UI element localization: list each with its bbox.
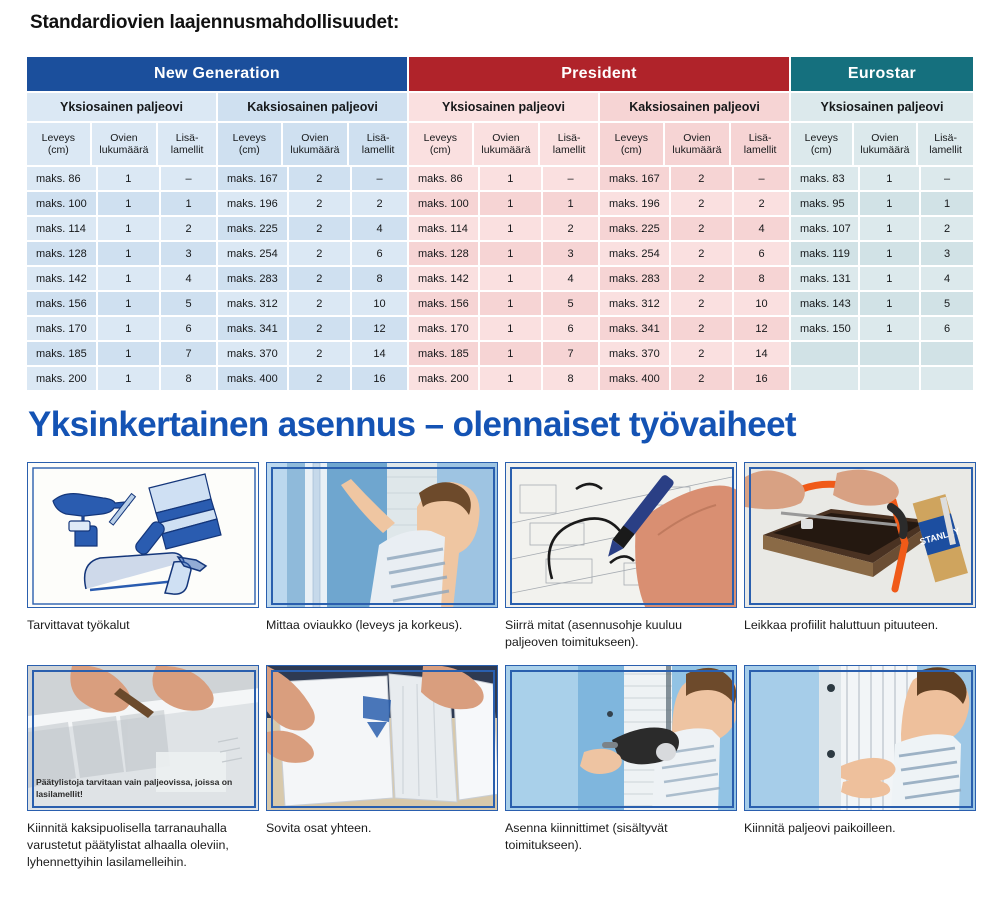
step-measure: Mittaa oviaukko (leveys ja korkeus). bbox=[266, 462, 498, 651]
table-cell: 2 bbox=[289, 167, 350, 190]
table-cell: 2 bbox=[671, 267, 732, 290]
table-cell: maks. 114 bbox=[27, 217, 96, 240]
step-caption: Kiinnitä kaksipuolisella tarranauhalla v… bbox=[27, 820, 259, 871]
table-cell: maks. 167 bbox=[218, 167, 287, 190]
table-cell: maks. 142 bbox=[409, 267, 478, 290]
table-cell: 1 bbox=[98, 317, 159, 340]
table-cell: 5 bbox=[921, 292, 973, 315]
table-cell: maks. 156 bbox=[27, 292, 96, 315]
photo-attaching-end-strips: Päätylistoja tarvitaan vain paljeovissa,… bbox=[27, 665, 259, 811]
table-row: maks. 861–maks. 1672–maks. 861–maks. 167… bbox=[27, 167, 973, 190]
table-cell: maks. 170 bbox=[409, 317, 478, 340]
table-cell: 3 bbox=[543, 242, 598, 265]
table-cell: 1 bbox=[480, 367, 541, 390]
step-caption: Asenna kiinnittimet (sisältyvät toimituk… bbox=[505, 820, 737, 854]
photo-marking-plans bbox=[505, 462, 737, 608]
table-cell: maks. 370 bbox=[218, 342, 287, 365]
table-cell: 8 bbox=[161, 367, 216, 390]
step-caption: Siirrä mitat (asennusohje kuuluu paljeov… bbox=[505, 617, 737, 651]
table-cell: 10 bbox=[734, 292, 789, 315]
variant-header-0: Yksiosainen paljeovi bbox=[27, 93, 216, 121]
table-cell: – bbox=[543, 167, 598, 190]
table-cell: 1 bbox=[480, 242, 541, 265]
step-caption: Tarvittavat työkalut bbox=[27, 617, 259, 634]
column-header-lisalamellit: Lisä-lamellit bbox=[158, 123, 216, 165]
table-cell: 1 bbox=[480, 317, 541, 340]
step-caption: Sovita osat yhteen. bbox=[266, 820, 498, 837]
table-cell: 2 bbox=[289, 292, 350, 315]
table-cell: 4 bbox=[161, 267, 216, 290]
table-cell: 6 bbox=[921, 317, 973, 340]
photo-mounting-door bbox=[744, 665, 976, 811]
photo-measuring-doorway bbox=[266, 462, 498, 608]
table-cell bbox=[921, 342, 973, 365]
table-cell: maks. 185 bbox=[27, 342, 96, 365]
table-cell: 16 bbox=[352, 367, 407, 390]
table-cell: 1 bbox=[860, 292, 919, 315]
table-body: maks. 861–maks. 1672–maks. 861–maks. 167… bbox=[27, 167, 973, 390]
table-cell: 2 bbox=[543, 217, 598, 240]
table-cell: maks. 114 bbox=[409, 217, 478, 240]
table-cell: 1 bbox=[98, 367, 159, 390]
table-cell: 6 bbox=[161, 317, 216, 340]
table-cell: 4 bbox=[543, 267, 598, 290]
table-cell: 1 bbox=[921, 192, 973, 215]
table-cell: – bbox=[161, 167, 216, 190]
brand-header-eurostar: Eurostar bbox=[791, 57, 973, 91]
table-cell: 14 bbox=[734, 342, 789, 365]
table-cell: maks. 185 bbox=[409, 342, 478, 365]
table-cell: 1 bbox=[860, 192, 919, 215]
column-header-leveys: Leveys(cm) bbox=[791, 123, 852, 165]
table-row: maks. 11412maks. 22524maks. 11412maks. 2… bbox=[27, 217, 973, 240]
photo-cutting-profiles: STANLEY bbox=[744, 462, 976, 608]
table-cell: 8 bbox=[734, 267, 789, 290]
tools-illustration bbox=[27, 462, 259, 608]
column-header-leveys: Leveys(cm) bbox=[218, 123, 281, 165]
column-header-ovien-lukumaara: Ovienlukumäärä bbox=[92, 123, 157, 165]
table-cell: maks. 312 bbox=[600, 292, 669, 315]
table-cell: maks. 196 bbox=[218, 192, 287, 215]
table-cell: 2 bbox=[289, 217, 350, 240]
table-cell: 1 bbox=[480, 217, 541, 240]
table-cell: 12 bbox=[352, 317, 407, 340]
table-cell: 2 bbox=[161, 217, 216, 240]
column-header-ovien-lukumaara: Ovienlukumäärä bbox=[283, 123, 348, 165]
table-cell: maks. 119 bbox=[791, 242, 858, 265]
table-cell: 1 bbox=[860, 242, 919, 265]
table-cell: 2 bbox=[671, 317, 732, 340]
brand-header-president: President bbox=[409, 57, 789, 91]
table-row: maks. 10011maks. 19622maks. 10011maks. 1… bbox=[27, 192, 973, 215]
table-cell bbox=[921, 367, 973, 390]
table-column-header-row: Leveys(cm)OvienlukumääräLisä-lamellitLev… bbox=[27, 123, 973, 165]
table-cell: 12 bbox=[734, 317, 789, 340]
table-cell: 8 bbox=[543, 367, 598, 390]
spec-table: New GenerationPresidentEurostar Yksiosai… bbox=[27, 57, 973, 390]
table-cell: 2 bbox=[289, 317, 350, 340]
table-cell: 1 bbox=[98, 167, 159, 190]
table-cell: 1 bbox=[860, 267, 919, 290]
table-cell: maks. 83 bbox=[791, 167, 858, 190]
table-cell bbox=[860, 367, 919, 390]
step-transfer: Siirrä mitat (asennusohje kuuluu paljeov… bbox=[505, 462, 737, 651]
table-cell: 6 bbox=[734, 242, 789, 265]
table-cell: maks. 95 bbox=[791, 192, 858, 215]
table-cell: maks. 107 bbox=[791, 217, 858, 240]
step-endstrips: Päätylistoja tarvitaan vain paljeovissa,… bbox=[27, 665, 259, 871]
table-cell: maks. 128 bbox=[409, 242, 478, 265]
table-cell: maks. 283 bbox=[600, 267, 669, 290]
column-header-leveys: Leveys(cm) bbox=[409, 123, 472, 165]
table-row: maks. 20018maks. 400216maks. 20018maks. … bbox=[27, 367, 973, 390]
table-cell: maks. 225 bbox=[218, 217, 287, 240]
step-caption: Leikkaa profiilit haluttuun pituuteen. bbox=[744, 617, 976, 634]
image-overlay-note: Päätylistoja tarvitaan vain paljeovissa,… bbox=[36, 777, 248, 800]
variant-header-4: Yksiosainen paljeovi bbox=[791, 93, 973, 121]
table-cell: 1 bbox=[480, 292, 541, 315]
table-cell: – bbox=[734, 167, 789, 190]
table-cell: 3 bbox=[921, 242, 973, 265]
table-cell: 2 bbox=[289, 367, 350, 390]
table-cell: maks. 170 bbox=[27, 317, 96, 340]
column-header-lisalamellit: Lisä-lamellit bbox=[349, 123, 407, 165]
table-cell: 6 bbox=[352, 242, 407, 265]
table-cell: maks. 131 bbox=[791, 267, 858, 290]
page-title: Standardiovien laajennusmahdollisuudet: bbox=[30, 12, 399, 34]
table-cell: 5 bbox=[161, 292, 216, 315]
table-cell: 2 bbox=[671, 167, 732, 190]
table-cell: 2 bbox=[289, 192, 350, 215]
table-cell: 16 bbox=[734, 367, 789, 390]
table-cell: maks. 86 bbox=[409, 167, 478, 190]
table-cell: 1 bbox=[98, 242, 159, 265]
table-cell: 1 bbox=[98, 342, 159, 365]
column-header-lisalamellit: Lisä-lamellit bbox=[918, 123, 973, 165]
table-row: maks. 14214maks. 28328maks. 14214maks. 2… bbox=[27, 267, 973, 290]
table-cell: maks. 283 bbox=[218, 267, 287, 290]
table-brand-header-row: New GenerationPresidentEurostar bbox=[27, 57, 973, 91]
table-cell: 2 bbox=[671, 342, 732, 365]
table-cell: 4 bbox=[734, 217, 789, 240]
table-cell: maks. 400 bbox=[218, 367, 287, 390]
table-cell: maks. 200 bbox=[27, 367, 96, 390]
installation-steps: Tarvittavat työkalut Mittaa oviaukko (le… bbox=[27, 462, 977, 872]
step-caption: Mittaa oviaukko (leveys ja korkeus). bbox=[266, 617, 498, 634]
photo-installing-fasteners bbox=[505, 665, 737, 811]
table-row: maks. 12813maks. 25426maks. 12813maks. 2… bbox=[27, 242, 973, 265]
table-cell: 2 bbox=[734, 192, 789, 215]
table-cell: maks. 225 bbox=[600, 217, 669, 240]
table-cell: 2 bbox=[671, 192, 732, 215]
step-cut: STANLEY Leikkaa profiilit haluttuun pitu… bbox=[744, 462, 976, 651]
step-caption: Kiinnitä paljeovi paikoilleen. bbox=[744, 820, 976, 837]
column-header-leveys: Leveys(cm) bbox=[27, 123, 90, 165]
step-fit: Sovita osat yhteen. bbox=[266, 665, 498, 871]
photo-fitting-parts bbox=[266, 665, 498, 811]
variant-header-2: Yksiosainen paljeovi bbox=[409, 93, 598, 121]
column-header-lisalamellit: Lisä-lamellit bbox=[540, 123, 598, 165]
section-heading: Yksinkertainen asennus – olennaiset työv… bbox=[28, 405, 796, 445]
table-cell: 2 bbox=[671, 242, 732, 265]
step-tools: Tarvittavat työkalut bbox=[27, 462, 259, 651]
table-cell: maks. 341 bbox=[600, 317, 669, 340]
table-cell: maks. 156 bbox=[409, 292, 478, 315]
table-cell: 1 bbox=[860, 167, 919, 190]
table-cell: maks. 100 bbox=[409, 192, 478, 215]
table-cell: 1 bbox=[480, 267, 541, 290]
table-cell: 1 bbox=[543, 192, 598, 215]
table-cell: – bbox=[921, 167, 973, 190]
table-row: maks. 18517maks. 370214maks. 18517maks. … bbox=[27, 342, 973, 365]
table-cell: maks. 128 bbox=[27, 242, 96, 265]
table-cell: 2 bbox=[289, 242, 350, 265]
table-cell: 2 bbox=[352, 192, 407, 215]
table-cell: maks. 100 bbox=[27, 192, 96, 215]
table-cell: 6 bbox=[543, 317, 598, 340]
table-cell: 10 bbox=[352, 292, 407, 315]
steps-row-top: Tarvittavat työkalut Mittaa oviaukko (le… bbox=[27, 462, 977, 651]
table-cell: maks. 200 bbox=[409, 367, 478, 390]
table-cell: maks. 370 bbox=[600, 342, 669, 365]
table-cell: 1 bbox=[860, 317, 919, 340]
table-cell: maks. 86 bbox=[27, 167, 96, 190]
table-cell: 1 bbox=[98, 192, 159, 215]
table-cell: maks. 143 bbox=[791, 292, 858, 315]
variant-header-3: Kaksiosainen paljeovi bbox=[600, 93, 789, 121]
table-variant-header-row: Yksiosainen paljeoviKaksiosainen paljeov… bbox=[27, 93, 973, 121]
table-cell: maks. 254 bbox=[600, 242, 669, 265]
table-cell: 2 bbox=[921, 217, 973, 240]
steps-row-bottom: Päätylistoja tarvitaan vain paljeovissa,… bbox=[27, 665, 977, 871]
column-header-ovien-lukumaara: Ovienlukumäärä bbox=[474, 123, 539, 165]
table-cell: 1 bbox=[98, 217, 159, 240]
table-cell bbox=[791, 367, 858, 390]
table-cell: 14 bbox=[352, 342, 407, 365]
table-cell bbox=[860, 342, 919, 365]
column-header-leveys: Leveys(cm) bbox=[600, 123, 663, 165]
table-cell: maks. 400 bbox=[600, 367, 669, 390]
table-cell: 2 bbox=[671, 292, 732, 315]
table-cell bbox=[791, 342, 858, 365]
table-cell: 4 bbox=[352, 217, 407, 240]
table-cell: 2 bbox=[289, 267, 350, 290]
table-cell: 1 bbox=[480, 192, 541, 215]
table-cell: 2 bbox=[671, 367, 732, 390]
brand-header-new-generation: New Generation bbox=[27, 57, 407, 91]
column-header-ovien-lukumaara: Ovienlukumäärä bbox=[854, 123, 917, 165]
table-cell: 5 bbox=[543, 292, 598, 315]
step-mount: Kiinnitä paljeovi paikoilleen. bbox=[744, 665, 976, 871]
variant-header-1: Kaksiosainen paljeovi bbox=[218, 93, 407, 121]
table-row: maks. 15615maks. 312210maks. 15615maks. … bbox=[27, 292, 973, 315]
table-cell: 2 bbox=[671, 217, 732, 240]
table-row: maks. 17016maks. 341212maks. 17016maks. … bbox=[27, 317, 973, 340]
table-cell: 3 bbox=[161, 242, 216, 265]
table-cell: 8 bbox=[352, 267, 407, 290]
table-cell: maks. 254 bbox=[218, 242, 287, 265]
table-cell: – bbox=[352, 167, 407, 190]
table-cell: maks. 341 bbox=[218, 317, 287, 340]
table-cell: 1 bbox=[98, 292, 159, 315]
table-cell: 7 bbox=[161, 342, 216, 365]
table-cell: 2 bbox=[289, 342, 350, 365]
table-cell: maks. 196 bbox=[600, 192, 669, 215]
step-fasteners: Asenna kiinnittimet (sisältyvät toimituk… bbox=[505, 665, 737, 871]
table-cell: 1 bbox=[860, 217, 919, 240]
table-cell: 1 bbox=[161, 192, 216, 215]
table-cell: maks. 312 bbox=[218, 292, 287, 315]
table-cell: 4 bbox=[921, 267, 973, 290]
table-cell: 7 bbox=[543, 342, 598, 365]
column-header-ovien-lukumaara: Ovienlukumäärä bbox=[665, 123, 730, 165]
table-cell: maks. 142 bbox=[27, 267, 96, 290]
table-cell: 1 bbox=[98, 267, 159, 290]
column-header-lisalamellit: Lisä-lamellit bbox=[731, 123, 789, 165]
table-cell: 1 bbox=[480, 342, 541, 365]
table-cell: 1 bbox=[480, 167, 541, 190]
table-cell: maks. 167 bbox=[600, 167, 669, 190]
table-cell: maks. 150 bbox=[791, 317, 858, 340]
